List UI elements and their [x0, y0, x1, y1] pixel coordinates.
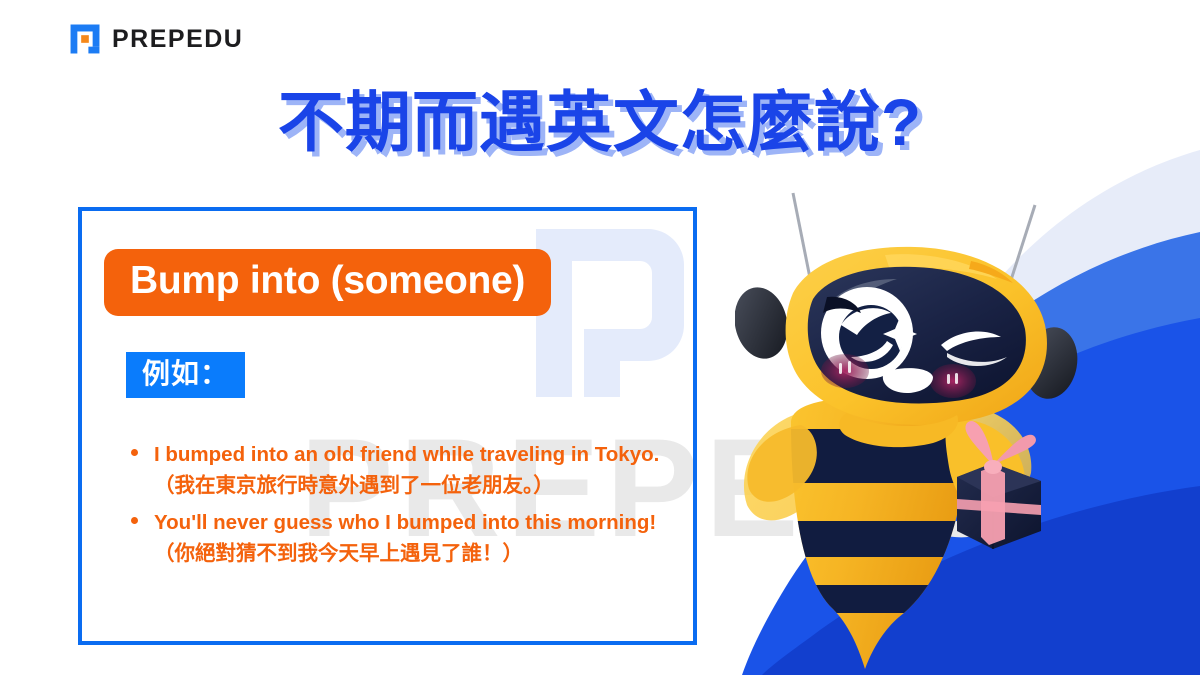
brand-logo[interactable]: PREPEDU: [68, 22, 243, 56]
slide-canvas: PREPEDU PREPEDU 不期而遇英文怎麼說? Bump into (so…: [0, 0, 1200, 675]
page-title: 不期而遇英文怎麼說?: [0, 88, 1200, 157]
prepedu-bee-robot-mascot: [735, 185, 1095, 675]
example-list: I bumped into an old friend while travel…: [128, 439, 673, 576]
bullet-dot-icon: [131, 517, 138, 524]
right-blush: [930, 364, 976, 398]
prepedu-bracket-logo-icon: [68, 22, 102, 56]
left-ear-pod: [735, 282, 794, 363]
list-item: I bumped into an old friend while travel…: [128, 439, 673, 501]
content-card: Bump into (someone) 例如： I bumped into an…: [78, 207, 697, 645]
term-badge: Bump into (someone): [104, 249, 551, 316]
list-item: You'll never guess who I bumped into thi…: [128, 507, 673, 569]
brand-name: PREPEDU: [112, 27, 243, 52]
mascot-head: [735, 247, 1083, 425]
bullet-dot-icon: [131, 449, 138, 456]
example-sentence: I bumped into an old friend while travel…: [154, 443, 659, 497]
left-blush: [821, 354, 869, 388]
example-heading-badge: 例如：: [126, 352, 245, 398]
example-sentence: You'll never guess who I bumped into thi…: [154, 511, 656, 565]
